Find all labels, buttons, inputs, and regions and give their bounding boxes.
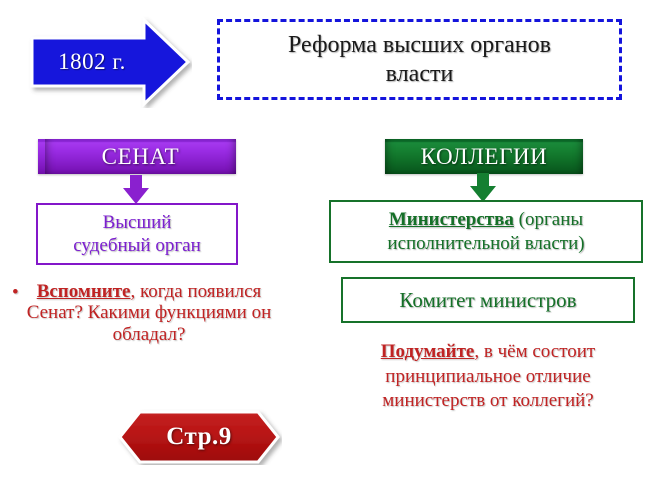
kollegii-question-emphasis: Подумайте: [381, 341, 475, 362]
ministries-box: Министерства (органы исполнительной влас…: [329, 200, 643, 263]
senat-question-block: • Вспомните, когда появился Сенат? Каким…: [6, 281, 274, 345]
committee-of-ministers-box: Комитет министров: [341, 277, 635, 323]
senat-question-emphasis: Вспомните: [37, 281, 131, 302]
ministries-emphasis: Министерства: [389, 209, 514, 230]
bullet-marker: •: [12, 282, 19, 303]
ministries-text: Министерства (органы исполнительной влас…: [331, 208, 641, 255]
kollegii-header-plaque: КОЛЛЕГИИ: [385, 139, 583, 174]
page-title-line2: власти: [386, 61, 454, 87]
page-reference-banner[interactable]: Стр.9: [116, 409, 282, 465]
page-title-line1: Реформа высших органов: [288, 32, 551, 58]
right-arrow-icon: [28, 16, 192, 108]
kollegii-connector-arrow: [468, 173, 498, 203]
supreme-judicial-line2: судебный орган: [73, 235, 201, 256]
committee-of-ministers-label: Комитет министров: [399, 288, 576, 313]
senat-question-text: Вспомните, когда появился Сенат? Какими …: [6, 281, 274, 345]
kollegii-question-block: Подумайте, в чём состоит принципиальное …: [345, 340, 631, 414]
down-arrow-icon: [121, 175, 151, 205]
senat-header-label: СЕНАТ: [102, 144, 180, 170]
senat-connector-arrow: [121, 175, 151, 205]
title-box: Реформа высших органов власти: [217, 19, 622, 100]
hexagon-banner-icon: [116, 409, 282, 465]
senat-header-plaque: СЕНАТ: [38, 139, 236, 174]
down-arrow-icon: [468, 173, 498, 203]
page-title: Реформа высших органов власти: [274, 31, 565, 88]
slide-canvas: 1802 г. Реформа высших органов власти СЕ…: [0, 0, 653, 490]
year-arrow-shape: 1802 г.: [28, 16, 192, 108]
supreme-judicial-body-text: Высший судебный орган: [73, 211, 201, 257]
supreme-judicial-body-box: Высший судебный орган: [36, 203, 238, 265]
kollegii-header-label: КОЛЛЕГИИ: [421, 144, 548, 170]
supreme-judicial-line1: Высший: [103, 212, 172, 233]
